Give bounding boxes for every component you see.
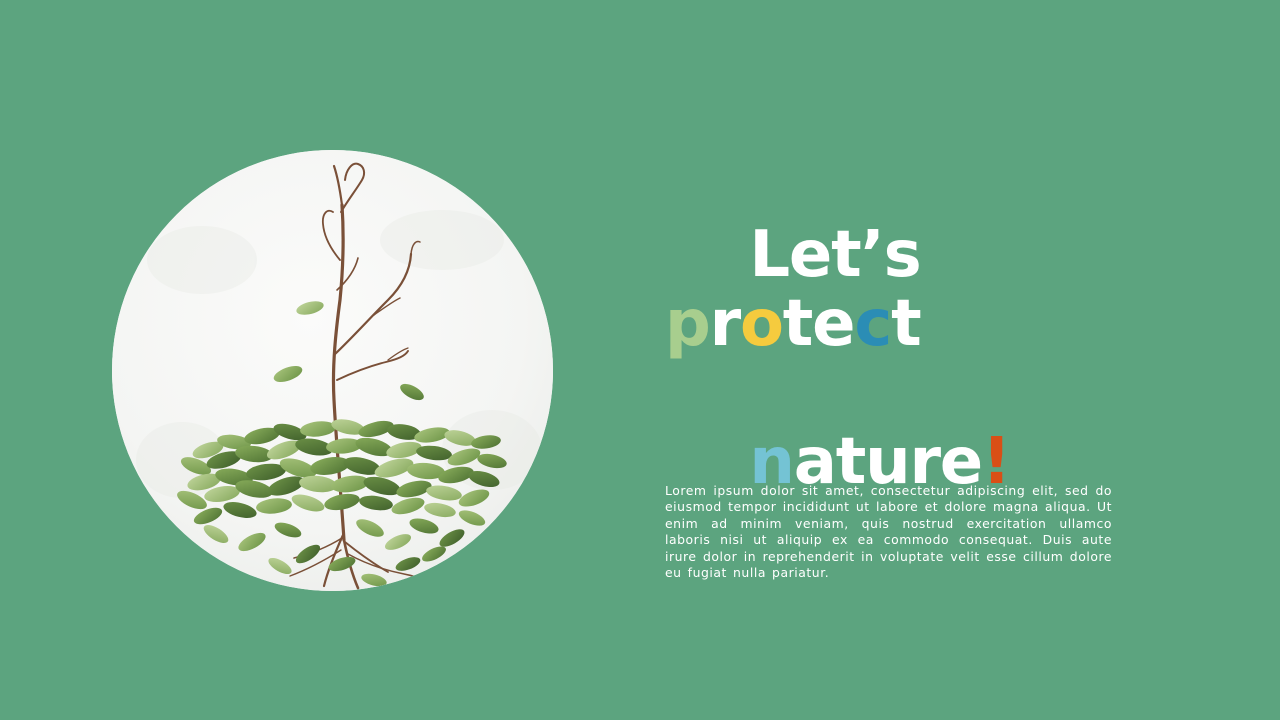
headline-line-1-run-3: o [740, 287, 783, 361]
headline-line-1-run-0: Let’s [749, 218, 941, 292]
headline-line-1-run-2: r [710, 287, 740, 361]
headline-line-1-run-5: c [854, 287, 891, 361]
circular-plant-image [112, 150, 553, 591]
headline-line-1-run-1: p [665, 287, 710, 361]
slide-canvas: Let’s protect nature! Lorem ipsum dolor … [0, 0, 1280, 720]
plant-illustration [112, 150, 553, 591]
headline-line-1-run-6: t [891, 287, 920, 361]
headline-line-1-run-4: te [783, 287, 855, 361]
body-paragraph: Lorem ipsum dolor sit amet, consectetur … [665, 483, 1112, 581]
headline-line-1: Let’s protect [665, 218, 942, 361]
